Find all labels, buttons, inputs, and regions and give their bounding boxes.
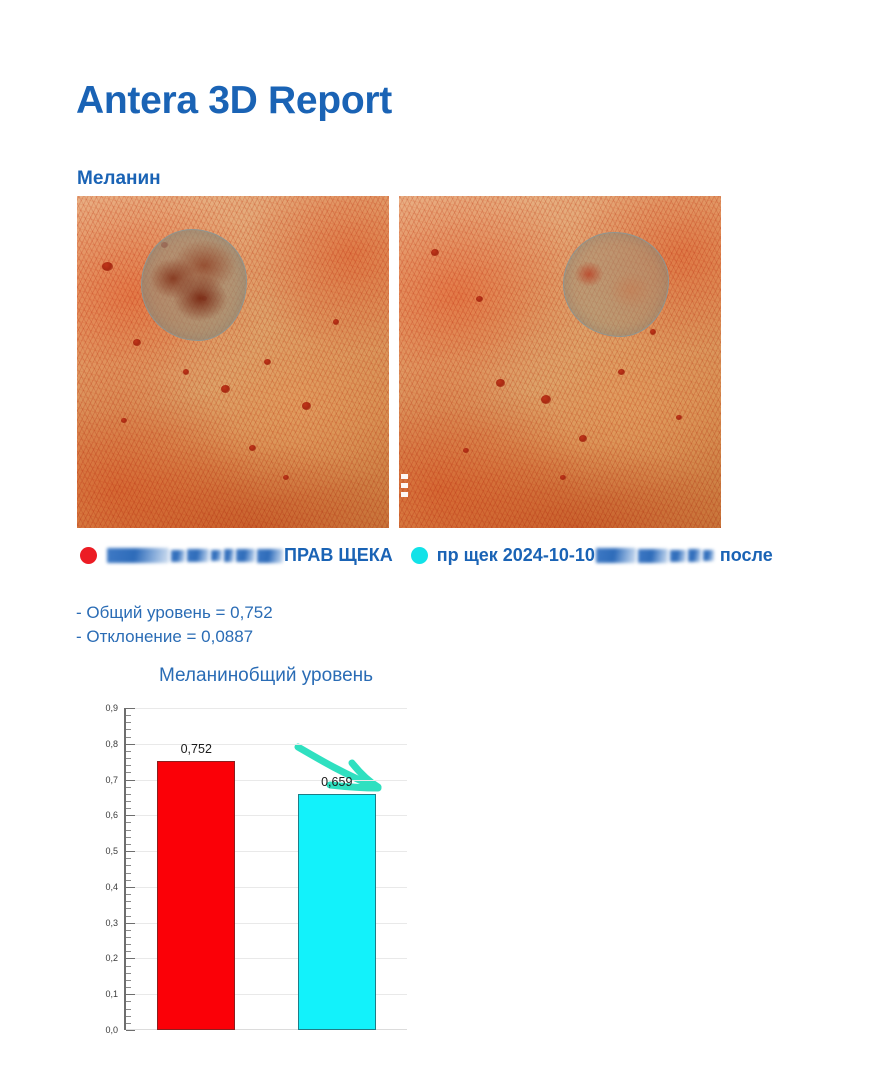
chart-plot-area: 0,00,10,20,30,40,50,60,70,80,90,7520,659 xyxy=(124,708,407,1030)
legend-marker-red-icon xyxy=(80,547,97,564)
y-axis-minor-tick xyxy=(126,737,131,738)
y-axis-tick-label: 0,1 xyxy=(105,989,118,999)
bar-after[interactable] xyxy=(298,794,376,1030)
y-axis-tick: 0,8 xyxy=(126,744,135,745)
section-title-melanin: Меланин xyxy=(77,168,161,190)
scale-marks-icon xyxy=(401,474,408,500)
y-axis-minor-tick xyxy=(126,873,131,874)
y-axis-minor-tick xyxy=(126,951,131,952)
y-axis-tick-label: 0,3 xyxy=(105,918,118,928)
y-axis-tick: 0,6 xyxy=(126,815,135,816)
redacted-block xyxy=(236,549,255,562)
y-axis-minor-tick xyxy=(126,901,131,902)
y-axis-tick: 0,5 xyxy=(126,851,135,852)
y-axis-minor-tick xyxy=(126,751,131,752)
melanin-photo-after xyxy=(399,196,721,528)
y-axis-minor-tick xyxy=(126,822,131,823)
y-axis-minor-tick xyxy=(126,973,131,974)
y-axis-tick-label: 0,5 xyxy=(105,846,118,856)
melanin-photo-before xyxy=(77,196,389,528)
bar-value-label: 0,659 xyxy=(321,775,352,789)
y-axis-minor-tick xyxy=(126,987,131,988)
redacted-block xyxy=(596,548,636,563)
redacted-block xyxy=(257,549,283,563)
legend-entry-before[interactable]: ПРАВ ЩЕКА xyxy=(80,545,393,566)
report-page: Antera 3D Report Меланин xyxy=(0,0,896,1080)
redacted-block xyxy=(107,548,169,563)
y-axis-tick: 0,3 xyxy=(126,923,135,924)
y-axis-tick: 0,2 xyxy=(126,958,135,959)
y-axis-minor-tick xyxy=(126,808,131,809)
y-axis-minor-tick xyxy=(126,801,131,802)
y-axis-tick-label: 0,6 xyxy=(105,810,118,820)
redacted-block xyxy=(670,550,686,562)
skin-spots-after xyxy=(399,196,721,528)
y-axis-minor-tick xyxy=(126,722,131,723)
y-axis-minor-tick xyxy=(126,894,131,895)
y-axis-tick: 0,4 xyxy=(126,887,135,888)
y-axis-minor-tick xyxy=(126,794,131,795)
lesion-roi-after xyxy=(563,232,669,337)
redacted-block xyxy=(224,549,234,562)
legend-text-after-suffix: после xyxy=(720,545,773,565)
y-axis-tick-label: 0,7 xyxy=(105,775,118,785)
y-axis-minor-tick xyxy=(126,858,131,859)
redacted-block xyxy=(171,550,185,562)
y-axis-minor-tick xyxy=(126,930,131,931)
redacted-block xyxy=(211,550,222,561)
y-axis-tick-label: 0,8 xyxy=(105,739,118,749)
stat-deviation: - Отклонение = 0,0887 xyxy=(76,625,273,649)
y-axis-minor-tick xyxy=(126,772,131,773)
legend-marker-cyan-icon xyxy=(411,547,428,564)
y-axis-minor-tick xyxy=(126,980,131,981)
melanin-bar-chart: Меланинобщий уровень 0,00,10,20,30,40,50… xyxy=(76,665,436,1045)
y-axis-minor-tick xyxy=(126,1001,131,1002)
y-axis-tick: 0,0 xyxy=(126,1030,135,1031)
lesion-roi-before xyxy=(141,229,247,341)
y-axis-tick: 0,7 xyxy=(126,780,135,781)
chart-title: Меланинобщий уровень xyxy=(116,665,416,687)
y-axis-tick-label: 0,9 xyxy=(105,703,118,713)
y-axis-minor-tick xyxy=(126,844,131,845)
y-axis-minor-tick xyxy=(126,765,131,766)
bar-value-label: 0,752 xyxy=(181,742,212,756)
gridline xyxy=(126,744,407,745)
legend: ПРАВ ЩЕКА пр щек 2024-10-10 после xyxy=(80,540,886,570)
y-axis-minor-tick xyxy=(126,1023,131,1024)
redacted-block xyxy=(688,549,701,562)
y-axis-tick-label: 0,4 xyxy=(105,882,118,892)
y-axis-tick-label: 0,0 xyxy=(105,1025,118,1035)
y-axis-minor-tick xyxy=(126,937,131,938)
photo-comparison-row xyxy=(77,196,819,528)
legend-text-before: ПРАВ ЩЕКА xyxy=(284,545,393,565)
y-axis-tick: 0,9 xyxy=(126,708,135,709)
y-axis-minor-tick xyxy=(126,966,131,967)
stat-overall-level: - Общий уровень = 0,752 xyxy=(76,601,273,625)
y-axis-minor-tick xyxy=(126,944,131,945)
y-axis-minor-tick xyxy=(126,916,131,917)
y-axis-minor-tick xyxy=(126,880,131,881)
redacted-block xyxy=(187,549,209,562)
legend-label-after: пр щек 2024-10-10 после xyxy=(437,545,773,566)
page-title: Antera 3D Report xyxy=(76,79,392,123)
y-axis-minor-tick xyxy=(126,830,131,831)
y-axis-minor-tick xyxy=(126,758,131,759)
statistics-block: - Общий уровень = 0,752 - Отклонение = 0… xyxy=(76,601,273,649)
y-axis-minor-tick xyxy=(126,837,131,838)
y-axis-tick: 0,1 xyxy=(126,994,135,995)
redacted-block xyxy=(703,550,714,561)
legend-label-before: ПРАВ ЩЕКА xyxy=(106,545,393,566)
y-axis-minor-tick xyxy=(126,787,131,788)
y-axis-tick-label: 0,2 xyxy=(105,953,118,963)
bar-before[interactable] xyxy=(157,761,235,1030)
y-axis-minor-tick xyxy=(126,1009,131,1010)
redacted-block xyxy=(638,549,668,563)
legend-text-after-date: пр щек 2024-10-10 xyxy=(437,545,595,565)
y-axis-minor-tick xyxy=(126,729,131,730)
y-axis-line xyxy=(124,708,126,1030)
y-axis-minor-tick xyxy=(126,1016,131,1017)
legend-entry-after[interactable]: пр щек 2024-10-10 после xyxy=(411,545,773,566)
y-axis-minor-tick xyxy=(126,715,131,716)
y-axis-minor-tick xyxy=(126,908,131,909)
y-axis-minor-tick xyxy=(126,865,131,866)
gridline xyxy=(126,708,407,709)
